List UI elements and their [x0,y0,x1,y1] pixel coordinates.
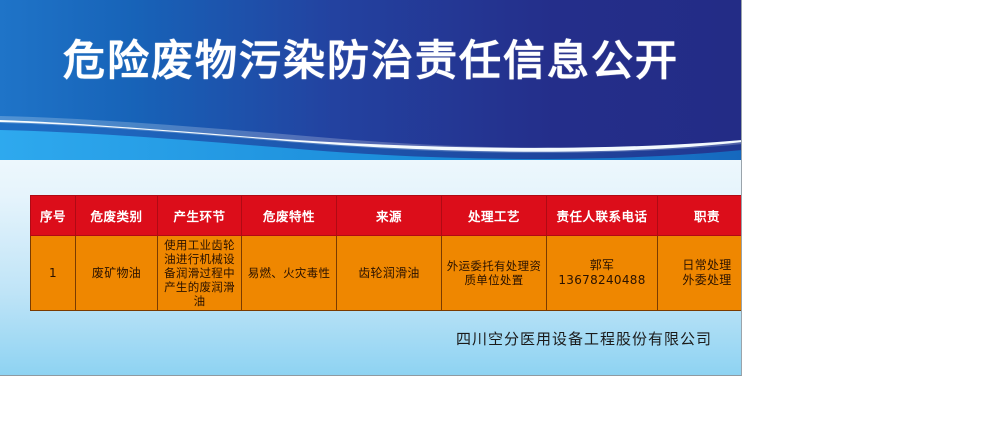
banner-background-graphic [0,0,742,160]
duty-line-2: 外委处理 [661,273,742,288]
cell-index: 1 [31,236,76,311]
column-header-generation-stage: 产生环节 [158,196,242,236]
cell-hazard-property: 易燃、火灾毒性 [242,236,337,311]
cell-treatment-process: 外运委托有处理资质单位处置 [442,236,547,311]
column-header-duty: 职责 [658,196,743,236]
cell-source: 齿轮润滑油 [337,236,442,311]
column-header-source: 来源 [337,196,442,236]
column-header-index: 序号 [31,196,76,236]
cell-responsible-contact: 郭军 13678240488 [547,236,658,311]
column-header-hazard-property: 危废特性 [242,196,337,236]
column-header-responsible-phone: 责任人联系电话 [547,196,658,236]
cell-generation-stage: 使用工业齿轮油进行机械设备润滑过程中产生的废润滑油 [158,236,242,311]
hazardous-waste-table: 序号 危废类别 产生环节 危废特性 来源 处理工艺 责任人联系电话 职责 1 废… [30,195,742,311]
cell-duty: 日常处理 外委处理 [658,236,743,311]
column-header-treatment-process: 处理工艺 [442,196,547,236]
company-name: 四川空分医用设备工程股份有限公司 [0,328,712,349]
table-row: 1 废矿物油 使用工业齿轮油进行机械设备润滑过程中产生的废润滑油 易燃、火灾毒性… [31,236,743,311]
table-header-row: 序号 危废类别 产生环节 危废特性 来源 处理工艺 责任人联系电话 职责 [31,196,743,236]
information-disclosure-poster: 危险废物污染防治责任信息公开 序号 危废类别 产生环节 危废特性 来源 处理工艺… [0,0,742,376]
responsible-person-phone: 13678240488 [550,273,654,288]
cell-category: 废矿物油 [76,236,158,311]
column-header-category: 危废类别 [76,196,158,236]
poster-banner: 危险废物污染防治责任信息公开 [0,0,742,160]
responsible-person-name: 郭军 [550,258,654,273]
duty-line-1: 日常处理 [661,258,742,273]
